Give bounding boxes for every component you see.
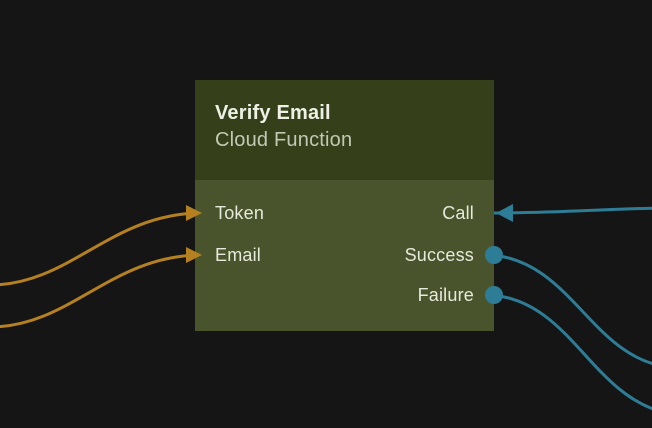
node-title: Verify Email bbox=[215, 100, 474, 126]
port-row-output-success[interactable]: Success bbox=[405, 243, 494, 267]
output-port-arrow-icon-call[interactable] bbox=[496, 204, 513, 222]
node-verify-email[interactable]: Verify Email Cloud Function Token Email … bbox=[195, 80, 494, 331]
node-header[interactable]: Verify Email Cloud Function bbox=[195, 80, 494, 180]
wire-token-in bbox=[0, 213, 200, 285]
port-row-output-call[interactable]: Call bbox=[442, 201, 494, 225]
output-port-dot-icon-failure[interactable] bbox=[485, 286, 503, 304]
wire-call-out bbox=[490, 208, 652, 213]
output-port-dot-icon-success[interactable] bbox=[485, 246, 503, 264]
port-row-output-failure[interactable]: Failure bbox=[418, 283, 494, 307]
node-body: Token Email Call Success Failure bbox=[195, 180, 494, 331]
wire-failure-out bbox=[492, 295, 652, 412]
input-port-arrow-icon-token[interactable] bbox=[186, 205, 202, 221]
port-row-input-token[interactable]: Token bbox=[195, 201, 264, 225]
input-port-label-email: Email bbox=[195, 245, 261, 266]
port-row-input-email[interactable]: Email bbox=[195, 243, 261, 267]
wire-email-in bbox=[0, 255, 200, 327]
output-port-label-call: Call bbox=[442, 203, 494, 224]
node-graph-canvas[interactable]: Verify Email Cloud Function Token Email … bbox=[0, 0, 652, 428]
input-port-arrow-icon-email[interactable] bbox=[186, 247, 202, 263]
input-port-label-token: Token bbox=[195, 203, 264, 224]
node-subtitle: Cloud Function bbox=[215, 126, 474, 154]
wire-success-out bbox=[492, 255, 652, 366]
output-port-label-failure: Failure bbox=[418, 285, 494, 306]
output-port-label-success: Success bbox=[405, 245, 494, 266]
